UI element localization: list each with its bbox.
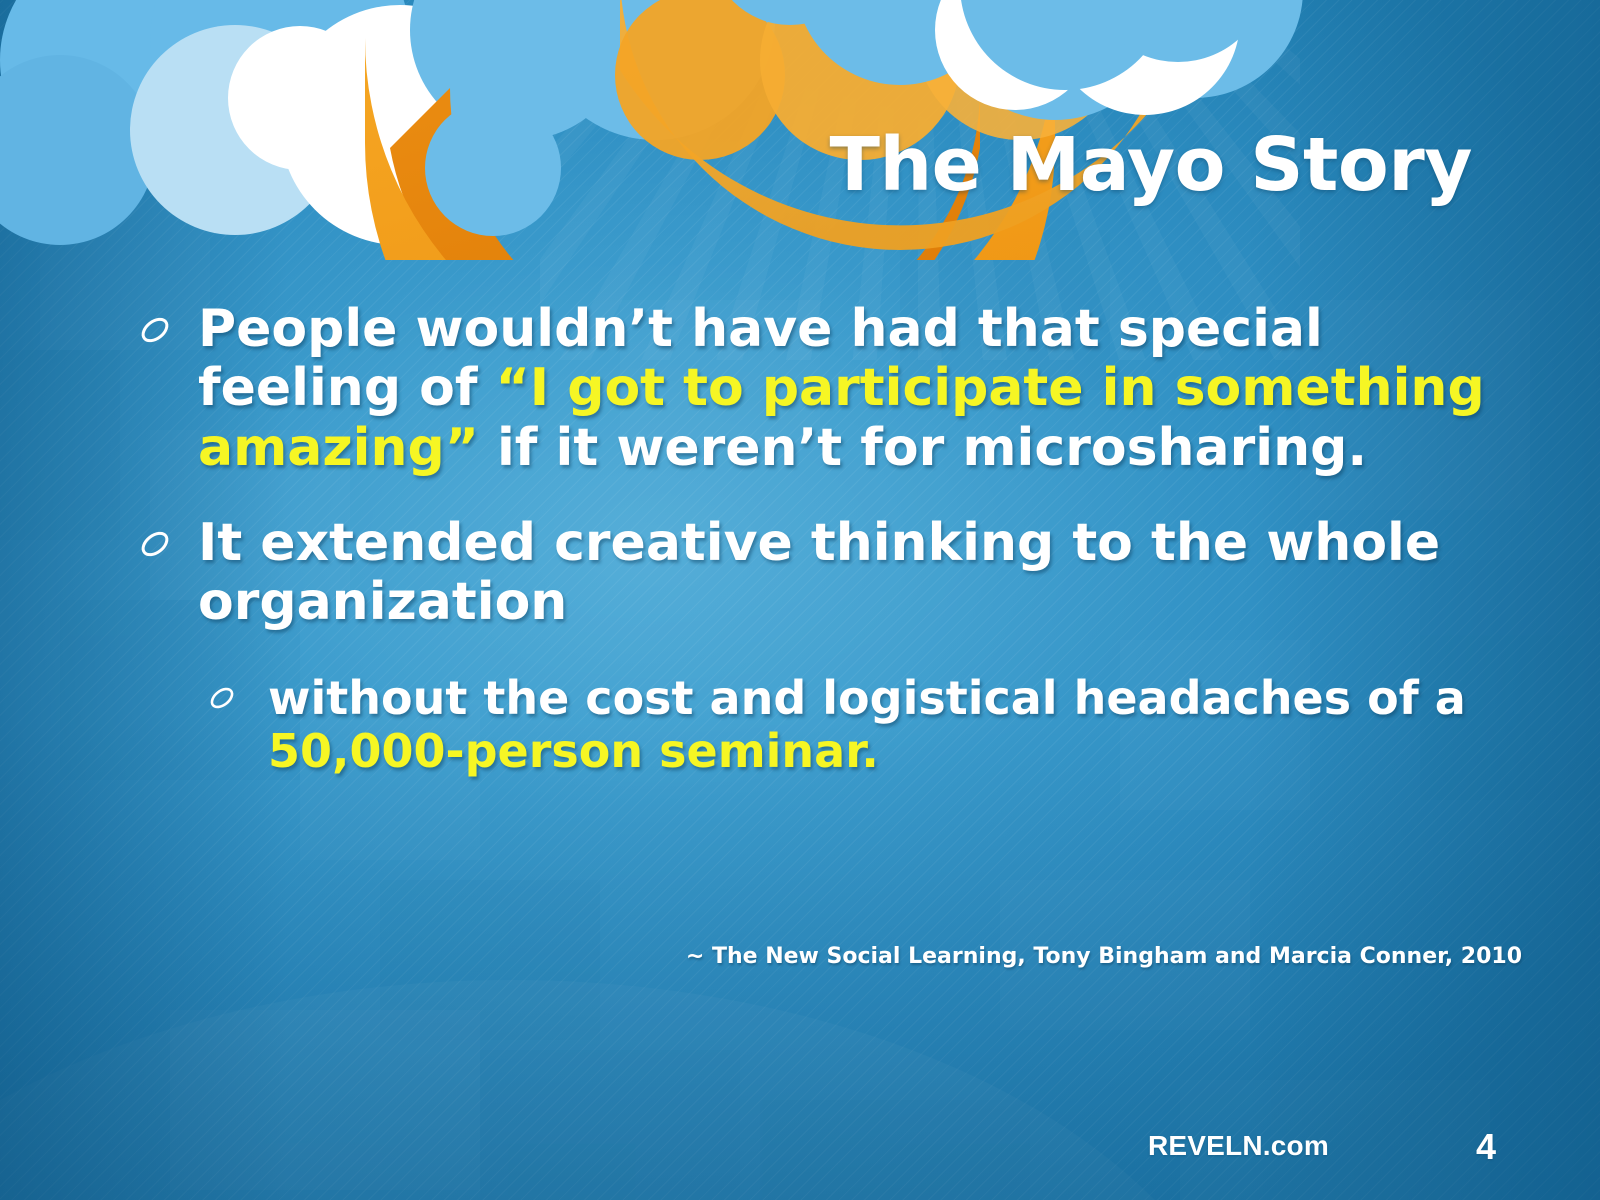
bullet-segment-highlighted: 50,000-person seminar. [268,724,879,778]
bullet-segment: without the cost and logistical headache… [268,671,1466,725]
bullet-segment: It extended creative thinking to the who… [198,513,1440,632]
sub-bullet-item: without the cost and logistical headache… [128,672,1528,777]
bullet-text: without the cost and logistical headache… [268,671,1466,777]
bullet-item: People wouldn’t have had that special fe… [128,300,1528,478]
bullet-text: It extended creative thinking to the who… [198,513,1440,632]
bullet-segment: if it weren’t for microsharing. [479,418,1367,478]
source-attribution: ~ The New Social Learning, Tony Bingham … [686,944,1522,969]
slide-page-number: 4 [1476,1126,1496,1168]
bullet-item: It extended creative thinking to the who… [128,514,1528,633]
slanted-oval-bullet-icon [136,525,174,563]
bullet-list: People wouldn’t have had that special fe… [128,300,1528,777]
slanted-oval-bullet-icon [136,311,174,349]
slanted-oval-bullet-icon [206,682,238,714]
footer-brand: REVELN.com [1148,1130,1329,1162]
page-title: The Mayo Story [830,128,1473,202]
bullet-text: People wouldn’t have had that special fe… [198,299,1485,478]
slide-canvas: The Mayo Story People wouldn’t have had … [0,0,1600,1200]
